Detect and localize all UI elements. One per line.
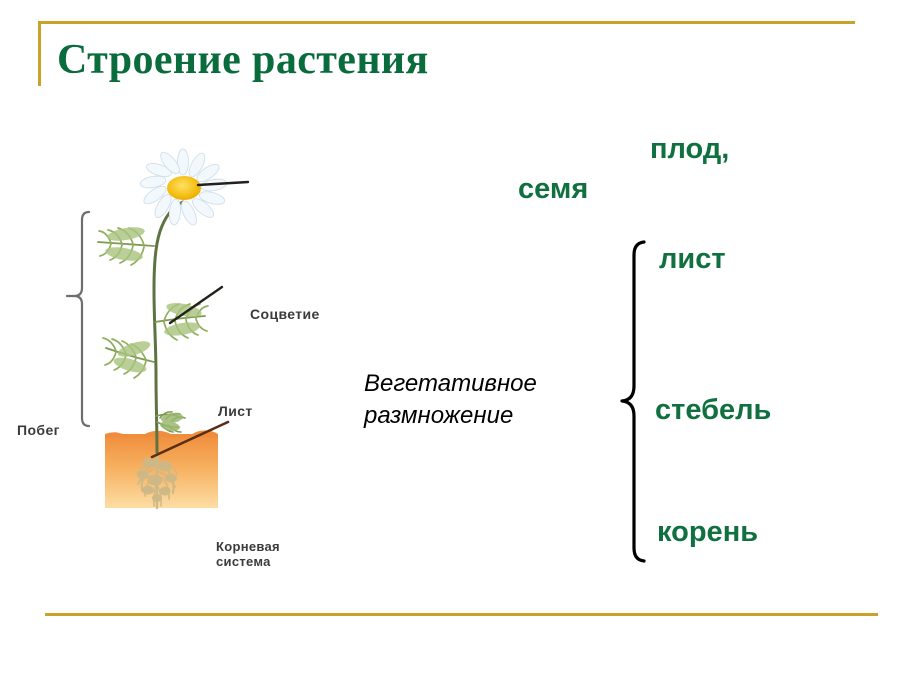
vegetative-propagation-text: Вегетативное размножение: [364, 368, 537, 431]
flower-center: [167, 176, 201, 200]
caption-shoot: Побег: [17, 422, 60, 438]
plant-illustration: Соцветие Лист Корневая система Побег: [0, 130, 350, 530]
slide-canvas: Строение растения: [0, 0, 910, 683]
caption-leaf: Лист: [218, 403, 253, 419]
caption-root-system: Корневая система: [216, 540, 280, 570]
left-gold-rule: [38, 21, 41, 86]
flower-head: [139, 149, 228, 227]
label-root: корень: [657, 516, 758, 549]
label-leaf: лист: [659, 243, 726, 276]
label-stem: стебель: [655, 394, 771, 427]
leaf-upper-left: [98, 225, 154, 265]
bottom-gold-rule: [45, 613, 878, 616]
label-fruit: плод,: [650, 133, 729, 166]
shoot-bracket: [74, 212, 89, 426]
label-seed: семя: [518, 173, 588, 206]
top-gold-rule: [38, 21, 855, 24]
leaf-lower-left: [103, 338, 154, 378]
organs-brace: [618, 238, 658, 573]
slide-title: Строение растения: [57, 36, 429, 84]
caption-inflorescence: Соцветие: [250, 306, 320, 322]
leaf-middle-right: [155, 300, 208, 340]
